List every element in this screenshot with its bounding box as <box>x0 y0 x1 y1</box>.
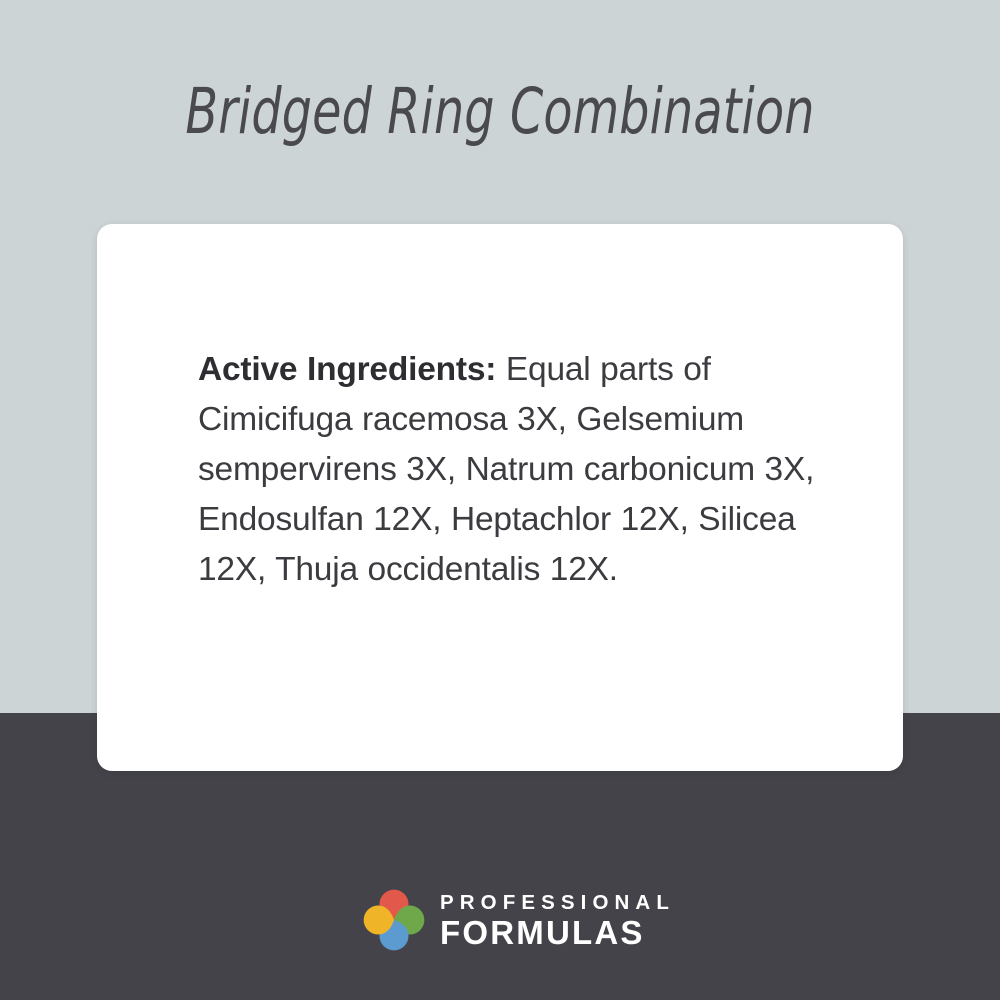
ingredients-label: Active Ingredients: <box>198 351 496 388</box>
page-title: Bridged Ring Combination <box>80 72 920 152</box>
four-petal-flower-icon <box>361 887 427 953</box>
brand-wordmark-formulas: FORMULAS <box>440 915 652 950</box>
ingredients-paragraph: Active Ingredients: Equal parts of Cimic… <box>198 345 838 595</box>
product-label-page: Bridged Ring Combination Active Ingredie… <box>0 0 1000 1000</box>
brand-wordmark-professional: PROFESSIONAL <box>440 890 652 915</box>
brand-logo: PROFESSIONAL FORMULAS <box>361 884 651 956</box>
brand-wordmark: PROFESSIONAL FORMULAS <box>440 890 652 950</box>
ingredients-card: Active Ingredients: Equal parts of Cimic… <box>97 224 903 771</box>
ingredients-card-body: Active Ingredients: Equal parts of Cimic… <box>198 345 838 595</box>
